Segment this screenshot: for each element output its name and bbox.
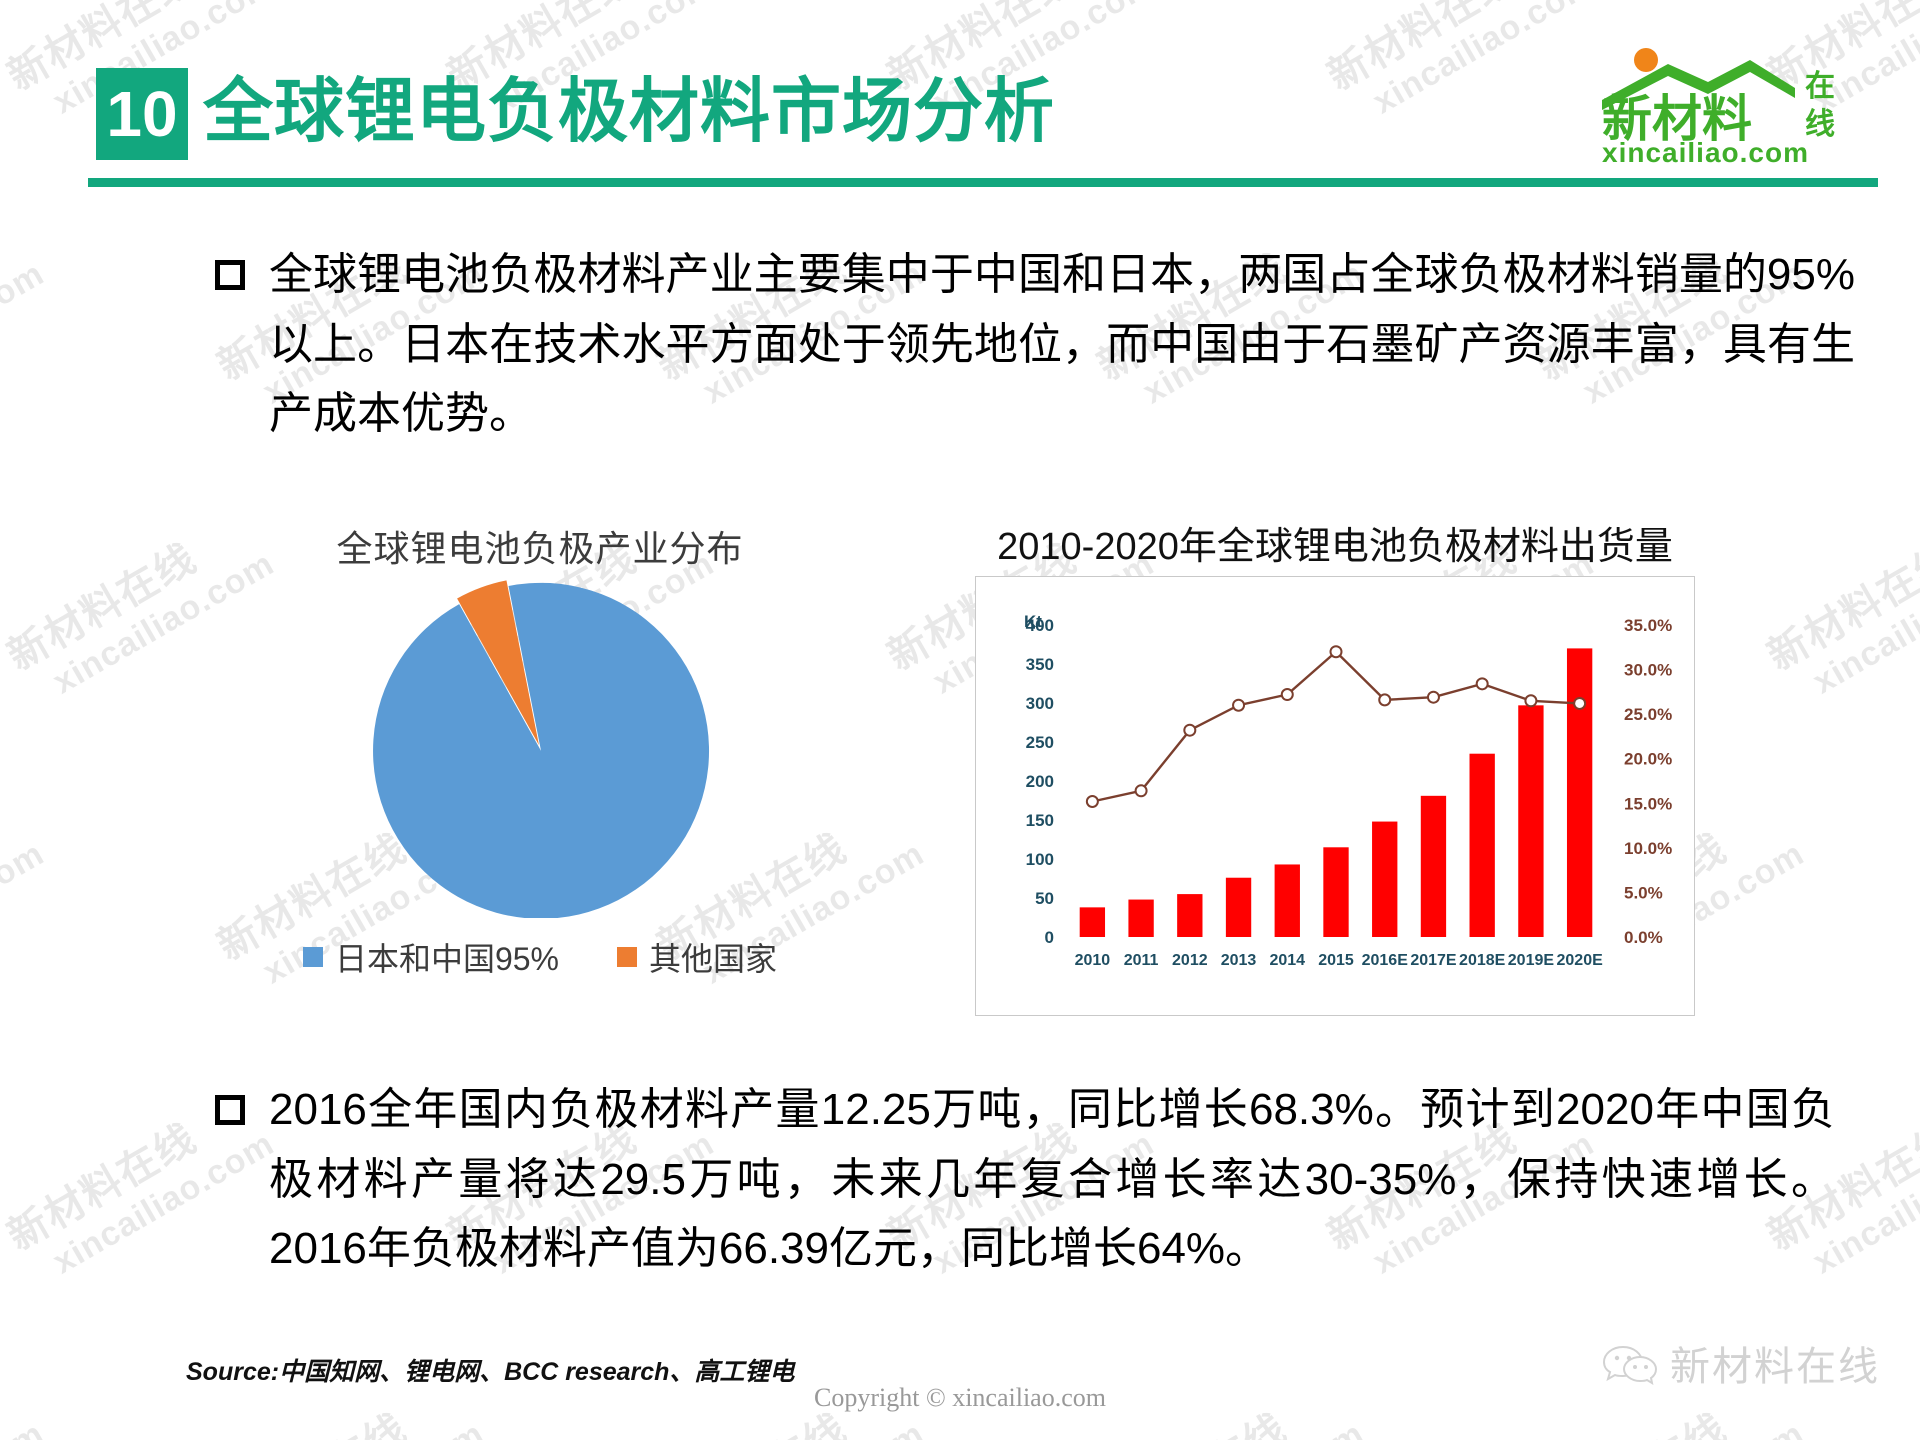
x-axis-ticks: 2010201120122013201420152016E2017E2018E2… (1075, 952, 1604, 969)
line-marker (1087, 796, 1098, 807)
x-axis-tick-label: 2017E (1410, 952, 1457, 969)
y2-axis-tick-label: 15.0% (1624, 794, 1672, 813)
y-axis-tick-label: 50 (1035, 889, 1054, 908)
line-marker (1331, 646, 1342, 657)
y-axis-tick-label: 300 (1026, 694, 1054, 713)
watermark-text: 新材料在线xincailiao.com (0, 503, 281, 716)
line-marker (1477, 678, 1488, 689)
svg-text:在: 在 (1805, 70, 1835, 103)
legend-label-others: 其他国家 (649, 934, 777, 980)
x-axis-tick-label: 2018E (1459, 952, 1506, 969)
slide-number-badge: 10 (96, 68, 188, 160)
x-axis-tick-label: 2016E (1362, 952, 1409, 969)
legend-swatch-orange (617, 947, 637, 967)
line-marker (1428, 692, 1439, 703)
wechat-icon (1602, 1341, 1658, 1385)
growth-line-series (1087, 646, 1585, 807)
wechat-label: 新材料在线 (1670, 1334, 1880, 1392)
pie-chart-canvas (340, 578, 740, 918)
wechat-badge: 新材料在线 (1602, 1334, 1880, 1392)
line-marker (1233, 700, 1244, 711)
page-title: 全球锂电负极材料市场分析 (203, 64, 1055, 159)
legend-item-others: 其他国家 (617, 934, 777, 980)
bar (1128, 900, 1153, 937)
legend-swatch-blue (303, 947, 323, 967)
bar (1275, 864, 1300, 937)
x-axis-tick-label: 2014 (1269, 952, 1305, 969)
y-axis-tick-label: 150 (1026, 811, 1054, 830)
y2-axis-tick-label: 30.0% (1624, 661, 1672, 680)
y2-axis-tick-label: 25.0% (1624, 705, 1672, 724)
x-axis-tick-label: 2011 (1124, 952, 1159, 969)
y-axis-tick-label: 200 (1026, 772, 1054, 791)
shipments-chart-frame: Kt 050100150200250300350400 0.0%5.0%10.0… (975, 576, 1695, 1016)
growth-line (1092, 652, 1579, 802)
legend-item-japan-china: 日本和中国95% (303, 934, 559, 980)
sun-icon (1634, 48, 1658, 72)
y2-axis-tick-label: 35.0% (1624, 616, 1672, 635)
pie-slice-japan-china (373, 583, 709, 918)
line-marker (1379, 694, 1390, 705)
bar-series (1080, 648, 1593, 937)
bullet-square-icon (215, 1095, 245, 1125)
brand-logo: 新材料 在 线 xincailiao.com (1590, 38, 1890, 168)
bullet-paragraph-1: 全球锂电池负极材料产业主要集中于中国和日本，两国占全球负极材料销量的95%以上。… (215, 240, 1855, 449)
x-axis-tick-label: 2012 (1172, 952, 1208, 969)
y2-axis-tick-label: 5.0% (1624, 883, 1663, 902)
y-axis-tick-label: 100 (1026, 850, 1054, 869)
slide-header: 10 全球锂电负极材料市场分析 新材料 在 线 xincailiao.com (0, 0, 1920, 195)
y2-axis-tick-label: 10.0% (1624, 839, 1672, 858)
svg-text:xincailiao.com: xincailiao.com (1602, 137, 1809, 168)
watermark-text: 新材料在线xincailiao.com (0, 793, 51, 1006)
line-marker (1184, 725, 1195, 736)
x-axis-tick-label: 2015 (1318, 952, 1354, 969)
bar (1421, 796, 1446, 937)
bar (1323, 847, 1348, 937)
pie-chart: 全球锂电池负极产业分布 日本和中国95% 其他国家 (270, 520, 810, 1000)
bullet-square-icon (215, 260, 245, 290)
line-marker (1525, 695, 1536, 706)
pie-chart-legend: 日本和中国95% 其他国家 (270, 934, 810, 980)
pie-slices (373, 580, 709, 918)
bar (1372, 822, 1397, 937)
pie-chart-title: 全球锂电池负极产业分布 (270, 520, 810, 572)
x-axis-tick-label: 2020E (1557, 952, 1604, 969)
y-axis-right-ticks: 0.0%5.0%10.0%15.0%20.0%25.0%30.0%35.0% (1624, 616, 1672, 947)
bar (1470, 754, 1495, 937)
bullet-text-1: 全球锂电池负极材料产业主要集中于中国和日本，两国占全球负极材料销量的95%以上。… (269, 240, 1855, 449)
y-axis-tick-label: 0 (1045, 928, 1054, 947)
shipments-chart-title: 2010-2020年全球锂电池负极材料出货量 (975, 515, 1695, 570)
line-marker (1574, 698, 1585, 709)
y-axis-tick-label: 250 (1026, 733, 1054, 752)
watermark-text: 新材料在线xincailiao.com (0, 213, 51, 426)
bar (1177, 894, 1202, 937)
y-axis-tick-label: 350 (1026, 655, 1054, 674)
title-divider (88, 178, 1878, 187)
y-axis-tick-label: 400 (1026, 616, 1054, 635)
bar (1080, 907, 1105, 937)
shipments-chart: 2010-2020年全球锂电池负极材料出货量 Kt 05010015020025… (975, 515, 1695, 1010)
svg-text:线: 线 (1805, 108, 1835, 141)
y2-axis-tick-label: 20.0% (1624, 750, 1672, 769)
bullet-paragraph-2: 2016全年国内负极材料产量12.25万吨，同比增长68.3%。预计到2020年… (215, 1075, 1835, 1284)
bar (1567, 648, 1592, 937)
watermark-text: 新材料在线xincailiao.com (1760, 503, 1920, 716)
bar (1518, 705, 1543, 937)
bullet-text-2: 2016全年国内负极材料产量12.25万吨，同比增长68.3%。预计到2020年… (269, 1075, 1835, 1284)
legend-label-japan-china: 日本和中国95% (335, 934, 559, 980)
y2-axis-tick-label: 0.0% (1624, 928, 1663, 947)
x-axis-tick-label: 2019E (1508, 952, 1555, 969)
y-axis-left-ticks: 050100150200250300350400 (1026, 616, 1054, 947)
x-axis-tick-label: 2013 (1221, 952, 1257, 969)
line-marker (1282, 689, 1293, 700)
x-axis-tick-label: 2010 (1075, 952, 1111, 969)
line-marker (1136, 785, 1147, 796)
bar (1226, 878, 1251, 937)
